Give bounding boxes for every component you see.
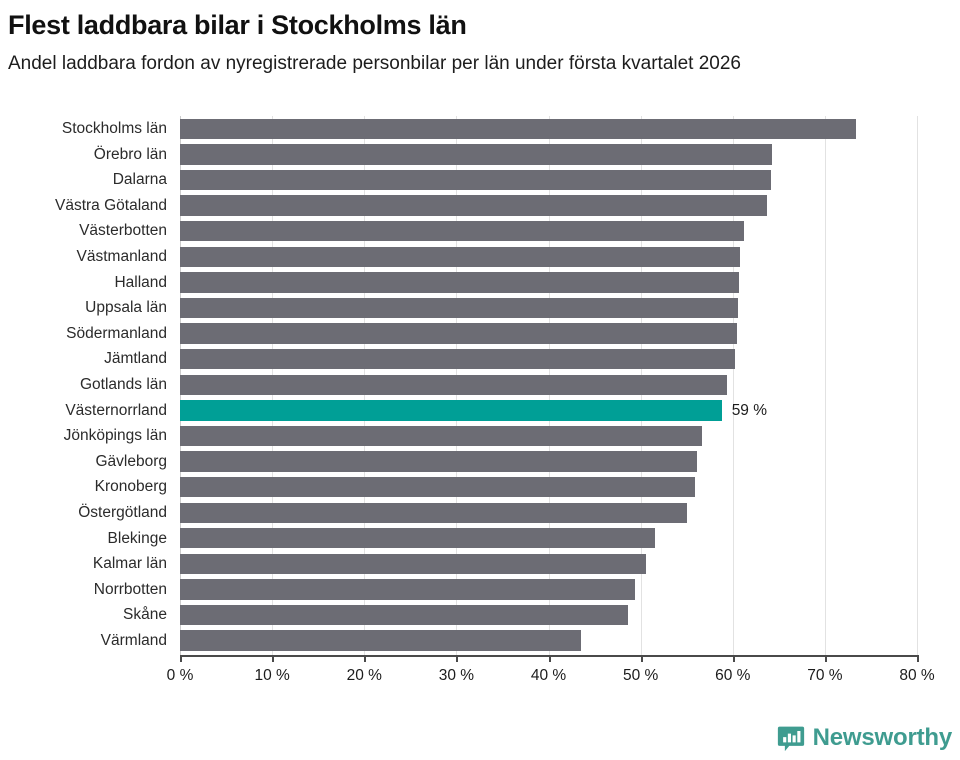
bar[interactable] <box>180 195 767 215</box>
bar-track <box>180 602 960 628</box>
bar-row: Halland <box>0 270 960 296</box>
bar-track <box>180 423 960 449</box>
bar-row: Jönköpings län <box>0 423 960 449</box>
bar[interactable] <box>180 630 581 650</box>
category-label: Uppsala län <box>0 295 167 321</box>
category-label: Västra Götaland <box>0 193 167 219</box>
bar-track <box>180 500 960 526</box>
x-axis-tick-label: 60 % <box>715 666 750 686</box>
x-axis-tick-label: 0 % <box>167 666 194 686</box>
category-label: Jämtland <box>0 346 167 372</box>
bar-track <box>180 628 960 654</box>
bar-track <box>180 295 960 321</box>
x-axis-tick-label: 30 % <box>439 666 474 686</box>
category-label: Skåne <box>0 602 167 628</box>
bar-row: Västernorrland59 % <box>0 398 960 424</box>
chart-page: Flest laddbara bilar i Stockholms län An… <box>0 0 960 760</box>
bar-track <box>180 142 960 168</box>
bar-highlighted[interactable] <box>180 400 722 420</box>
page-title: Flest laddbara bilar i Stockholms län <box>8 8 952 42</box>
category-label: Norrbotten <box>0 577 167 603</box>
x-axis-tick-label: 10 % <box>254 666 289 686</box>
x-axis-tick-0 <box>180 655 182 662</box>
bar-track <box>180 321 960 347</box>
bar[interactable] <box>180 579 635 599</box>
category-label: Blekinge <box>0 526 167 552</box>
bar[interactable] <box>180 323 737 343</box>
bar-row: Norrbotten <box>0 577 960 603</box>
x-axis-tick-40 <box>549 655 551 662</box>
bar-track <box>180 193 960 219</box>
category-label: Västernorrland <box>0 398 167 424</box>
bar[interactable] <box>180 144 772 164</box>
category-label: Gotlands län <box>0 372 167 398</box>
x-axis-tick-label: 80 % <box>899 666 934 686</box>
bar-track <box>180 346 960 372</box>
bar[interactable] <box>180 451 697 471</box>
bar[interactable] <box>180 247 740 267</box>
x-axis-tick-20 <box>364 655 366 662</box>
logo-wordmark: Newsworthy <box>813 724 952 752</box>
bar-track <box>180 449 960 475</box>
bar-row: Kronoberg <box>0 474 960 500</box>
chart-footer: Newsworthy <box>0 700 960 760</box>
bar[interactable] <box>180 119 856 139</box>
x-axis-tick-50 <box>641 655 643 662</box>
category-label: Västmanland <box>0 244 167 270</box>
category-label: Östergötland <box>0 500 167 526</box>
category-label: Västerbotten <box>0 218 167 244</box>
bar[interactable] <box>180 528 655 548</box>
x-axis-tick-label: 20 % <box>347 666 382 686</box>
x-axis-tick-60 <box>733 655 735 662</box>
category-label: Dalarna <box>0 167 167 193</box>
bar-row: Västerbotten <box>0 218 960 244</box>
bar[interactable] <box>180 349 735 369</box>
bar-track <box>180 474 960 500</box>
category-label: Stockholms län <box>0 116 167 142</box>
x-axis-tick-70 <box>825 655 827 662</box>
bar-row: Jämtland <box>0 346 960 372</box>
category-label: Jönköpings län <box>0 423 167 449</box>
x-axis-tick-80 <box>917 655 919 662</box>
bar-track <box>180 167 960 193</box>
bar[interactable] <box>180 375 727 395</box>
bar-row: Kalmar län <box>0 551 960 577</box>
x-axis-tick-label: 70 % <box>807 666 842 686</box>
category-label: Södermanland <box>0 321 167 347</box>
bar[interactable] <box>180 298 738 318</box>
bar-value-label: 59 % <box>722 398 767 424</box>
x-axis-tick-label: 40 % <box>531 666 566 686</box>
bar-track: 59 % <box>180 398 960 424</box>
bar-track <box>180 270 960 296</box>
bar-row: Värmland <box>0 628 960 654</box>
category-label: Gävleborg <box>0 449 167 475</box>
bar-row: Södermanland <box>0 321 960 347</box>
bar[interactable] <box>180 170 771 190</box>
bar[interactable] <box>180 554 646 574</box>
bar[interactable] <box>180 221 744 241</box>
bar-row: Stockholms län <box>0 116 960 142</box>
category-label: Halland <box>0 270 167 296</box>
x-axis-tick-label: 50 % <box>623 666 658 686</box>
bar-row: Västra Götaland <box>0 193 960 219</box>
bar-row: Skåne <box>0 602 960 628</box>
plot-area: Stockholms länÖrebro länDalarnaVästra Gö… <box>0 110 960 670</box>
newsworthy-logo[interactable]: Newsworthy <box>777 724 952 752</box>
bar-row: Gotlands län <box>0 372 960 398</box>
bar-row: Gävleborg <box>0 449 960 475</box>
bar-row: Uppsala län <box>0 295 960 321</box>
bar-track <box>180 551 960 577</box>
bar[interactable] <box>180 503 687 523</box>
bar-chart-speech-bubble-icon <box>777 724 805 752</box>
bar-track <box>180 577 960 603</box>
bar-row: Örebro län <box>0 142 960 168</box>
x-axis-tick-10 <box>272 655 274 662</box>
chart-subtitle: Andel laddbara fordon av nyregistrerade … <box>8 51 952 77</box>
category-label: Värmland <box>0 628 167 654</box>
bar-track <box>180 116 960 142</box>
category-label: Örebro län <box>0 142 167 168</box>
bar-rows: Stockholms länÖrebro länDalarnaVästra Gö… <box>0 116 960 653</box>
category-label: Kronoberg <box>0 474 167 500</box>
bar-row: Östergötland <box>0 500 960 526</box>
bar-row: Dalarna <box>0 167 960 193</box>
x-axis-tick-30 <box>456 655 458 662</box>
category-label: Kalmar län <box>0 551 167 577</box>
bar[interactable] <box>180 272 739 292</box>
bar[interactable] <box>180 477 695 497</box>
bar-track <box>180 526 960 552</box>
bar-track <box>180 372 960 398</box>
bar[interactable] <box>180 605 628 625</box>
bar[interactable] <box>180 426 702 446</box>
bar-row: Blekinge <box>0 526 960 552</box>
bar-track <box>180 218 960 244</box>
bar-track <box>180 244 960 270</box>
chart-header: Flest laddbara bilar i Stockholms län An… <box>0 0 960 77</box>
bar-row: Västmanland <box>0 244 960 270</box>
